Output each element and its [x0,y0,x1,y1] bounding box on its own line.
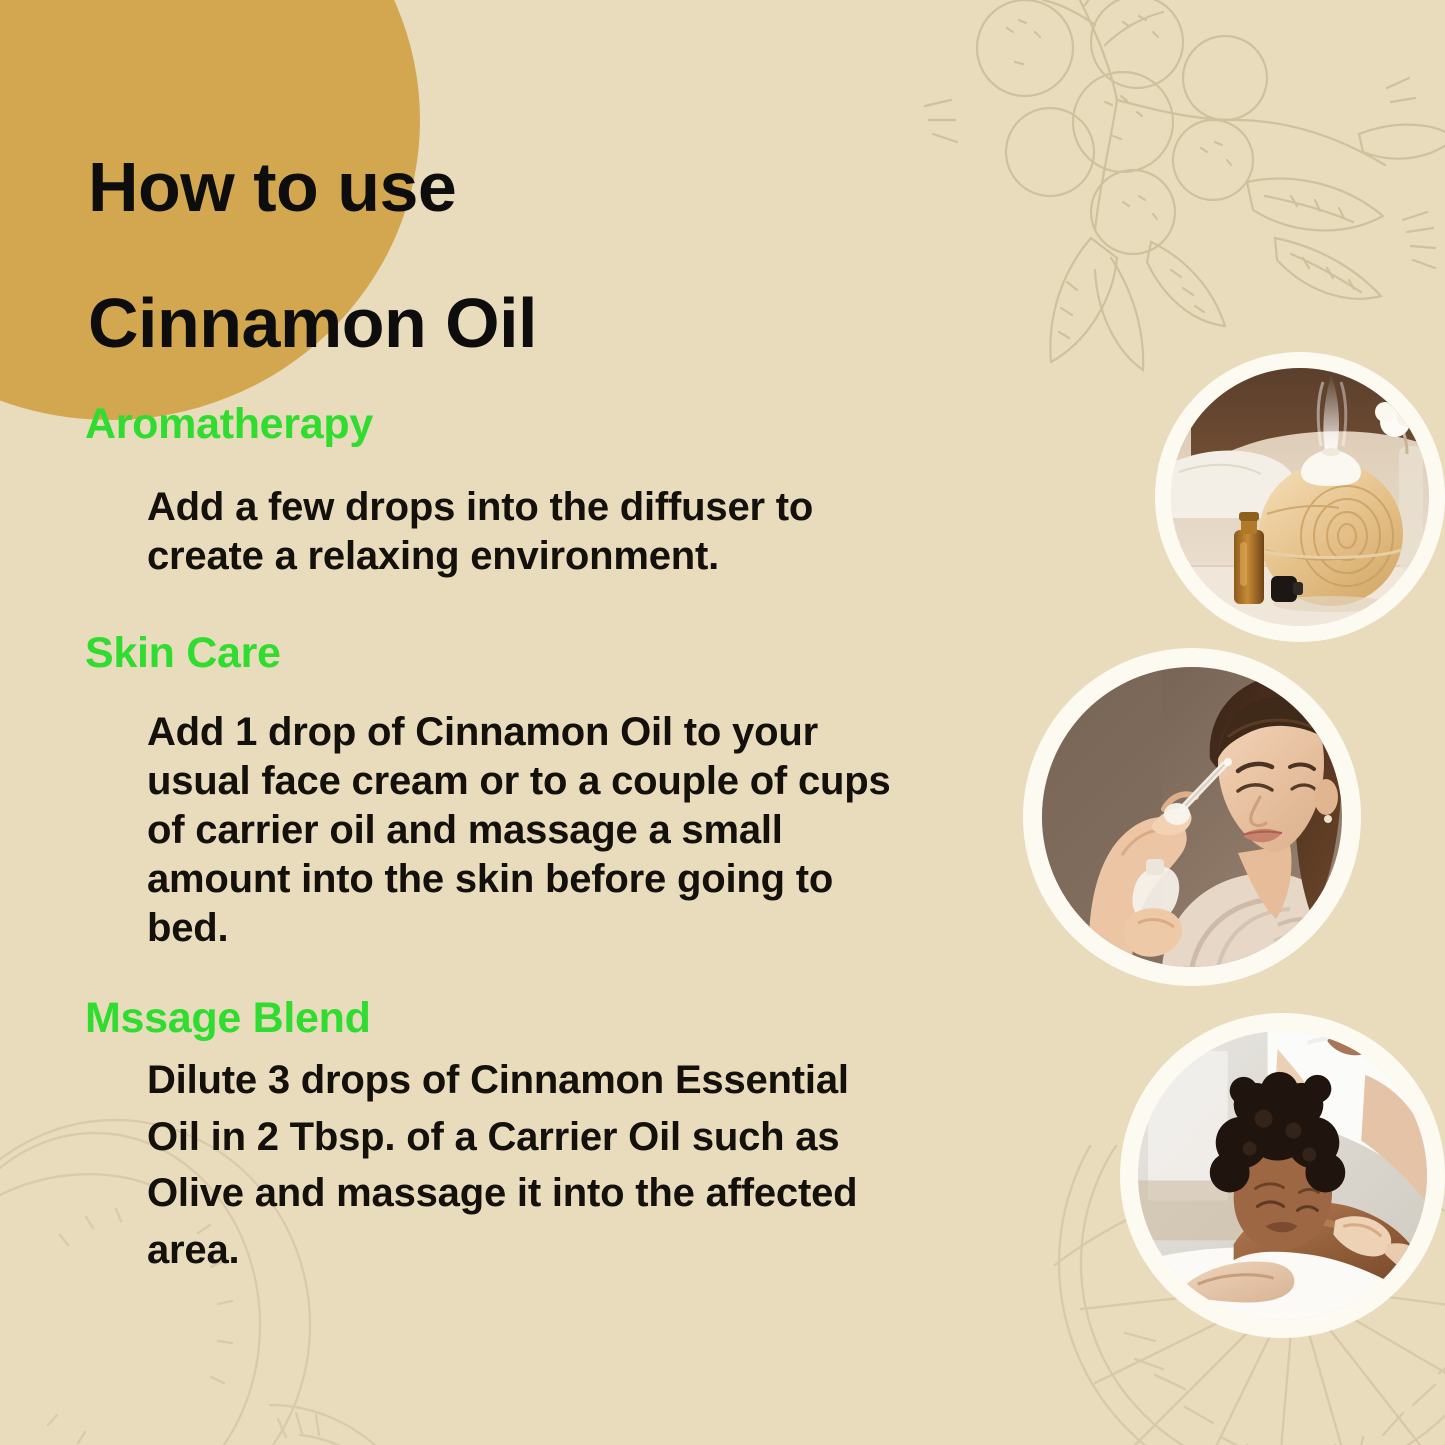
section-heading-skin-care: Skin Care [85,629,960,678]
diffuser-photo [1171,368,1429,626]
section-body-massage-blend: Dilute 3 drops of Cinnamon Essential Oil… [147,1052,907,1279]
section-body-aromatherapy: Add a few drops into the diffuser to cre… [147,483,907,581]
usage-sections: Aromatherapy Add a few drops into the di… [0,400,960,1283]
section-heading-massage-blend: Mssage Blend [85,994,960,1043]
skincare-photo [1042,667,1342,967]
section-aromatherapy: Aromatherapy Add a few drops into the di… [0,400,960,581]
how-to-use-cinnamon-oil-poster: How to use Cinnamon Oil Aromatherapy Add… [0,0,1445,1445]
diffuser-photo-bubble [1155,352,1445,642]
page-title-line-2: Cinnamon Oil [88,288,908,358]
page-title: How to use Cinnamon Oil [88,152,908,358]
skincare-photo-bubble [1023,648,1361,986]
massage-photo-bubble [1120,1013,1445,1338]
massage-photo [1138,1031,1427,1320]
section-body-skin-care: Add 1 drop of Cinnamon Oil to your usual… [147,708,907,952]
section-heading-aromatherapy: Aromatherapy [85,400,960,449]
page-title-line-1: How to use [88,152,908,222]
section-massage-blend: Mssage Blend Dilute 3 drops of Cinnamon … [0,994,960,1279]
section-skin-care: Skin Care Add 1 drop of Cinnamon Oil to … [0,629,960,952]
